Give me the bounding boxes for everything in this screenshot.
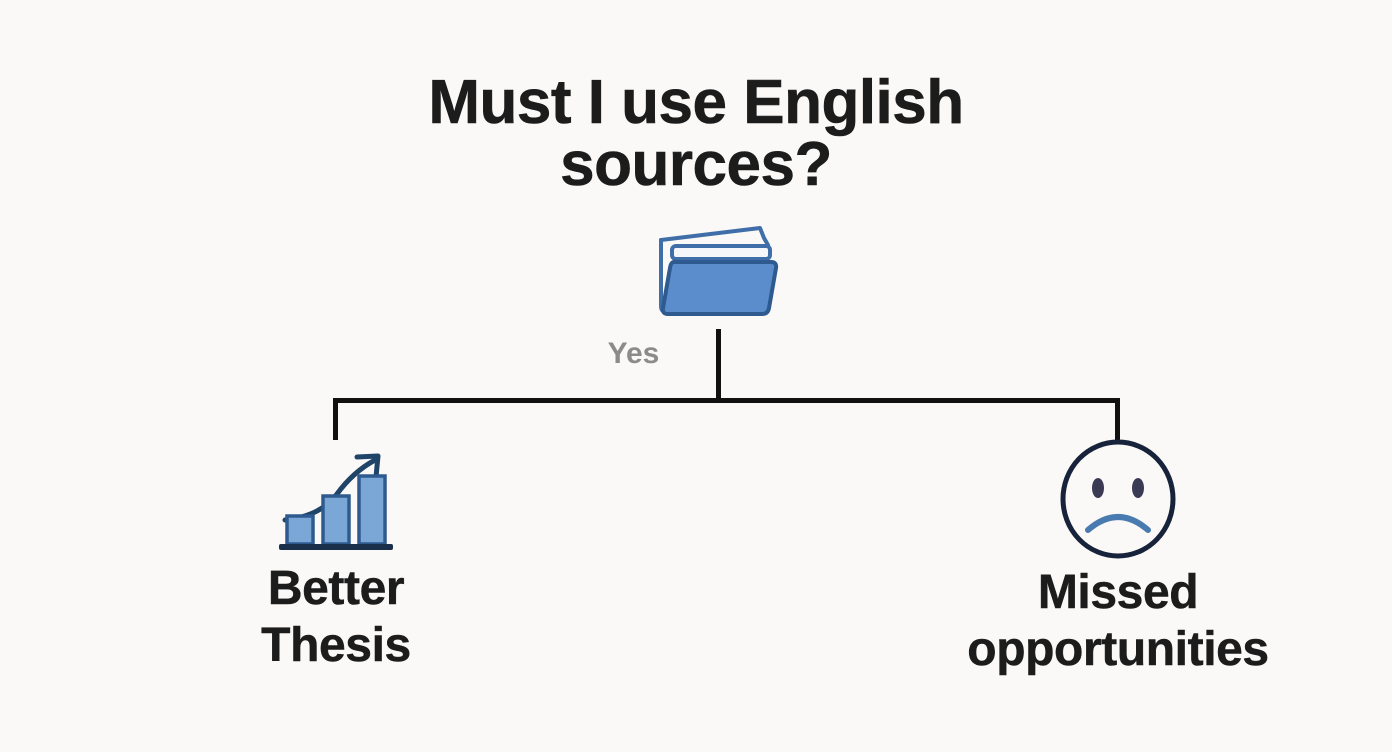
node-right-label: Missed opportunities	[898, 565, 1338, 678]
page-title: Must I use English sources?	[346, 72, 1046, 196]
node-left-label-line-1: Better	[156, 561, 516, 618]
page-title-line-2: sources?	[346, 134, 1046, 196]
node-right-label-line-1: Missed	[898, 565, 1338, 622]
node-branch-right[interactable]: Missed opportunities	[898, 438, 1338, 678]
edge-label-yes: Yes	[576, 337, 691, 371]
growth-chart-icon	[156, 444, 516, 561]
node-left-label-line-2: Thesis	[156, 618, 516, 675]
node-branch-left[interactable]: Better Thesis	[156, 444, 516, 674]
sad-face-icon	[898, 438, 1338, 565]
diagram-canvas: Must I use English sources? Yes	[0, 0, 1392, 752]
node-left-label: Better Thesis	[156, 561, 516, 674]
folder-icon	[618, 218, 818, 328]
page-title-line-1: Must I use English	[346, 72, 1046, 134]
node-right-label-line-2: opportunities	[898, 622, 1338, 679]
node-root[interactable]	[618, 218, 818, 328]
